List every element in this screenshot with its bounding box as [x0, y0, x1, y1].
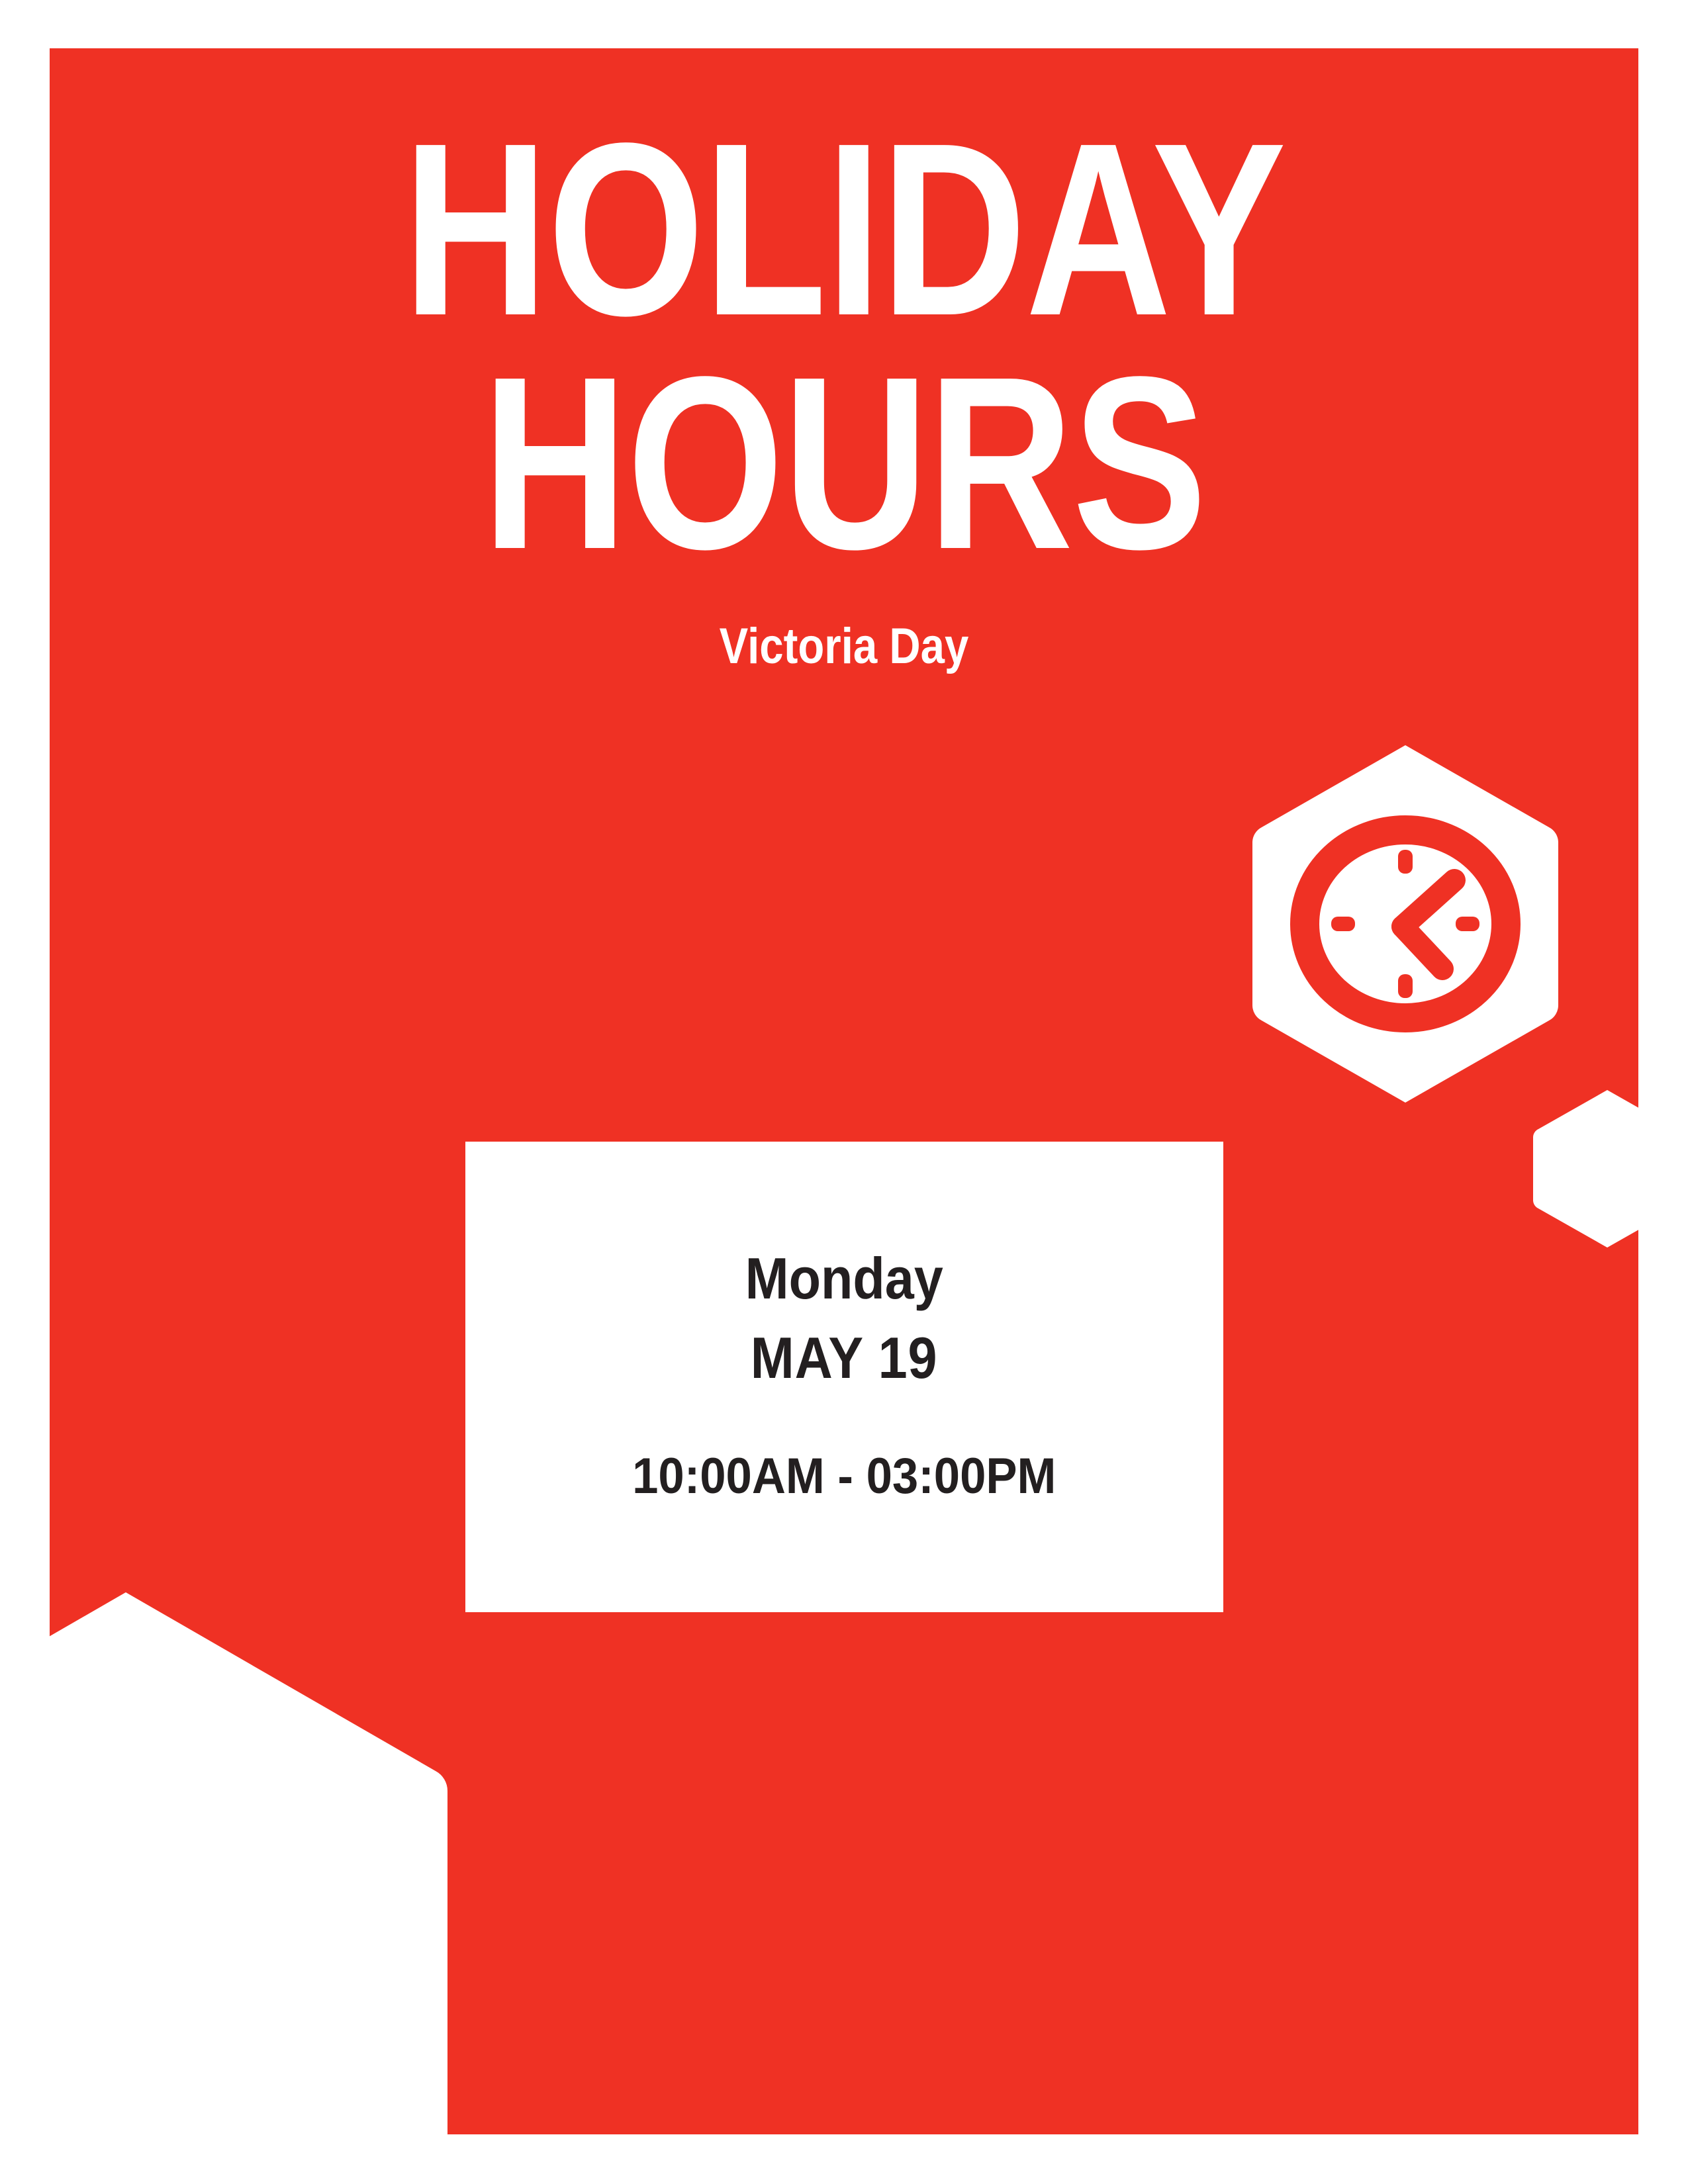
holiday-info-card: Monday MAY 19 10:00AM - 03:00PM	[465, 1142, 1223, 1612]
hexagon-shape-large	[0, 1588, 463, 2184]
headline-block: HOLIDAY HOURS Victoria Day	[50, 113, 1638, 672]
card-date-label: MAY 19	[751, 1329, 938, 1387]
card-day-label: Monday	[745, 1250, 943, 1308]
poster-subtitle: Victoria Day	[161, 621, 1527, 672]
hexagon-shape-small	[1526, 1088, 1688, 1250]
title-line-hours: HOURS	[193, 346, 1495, 580]
holiday-hours-poster: HOLIDAY HOURS Victoria Day	[0, 0, 1688, 2184]
hexagon-clock-icon	[1250, 743, 1561, 1105]
title-line-holiday: HOLIDAY	[193, 113, 1495, 346]
card-hours-label: 10:00AM - 03:00PM	[632, 1451, 1056, 1502]
